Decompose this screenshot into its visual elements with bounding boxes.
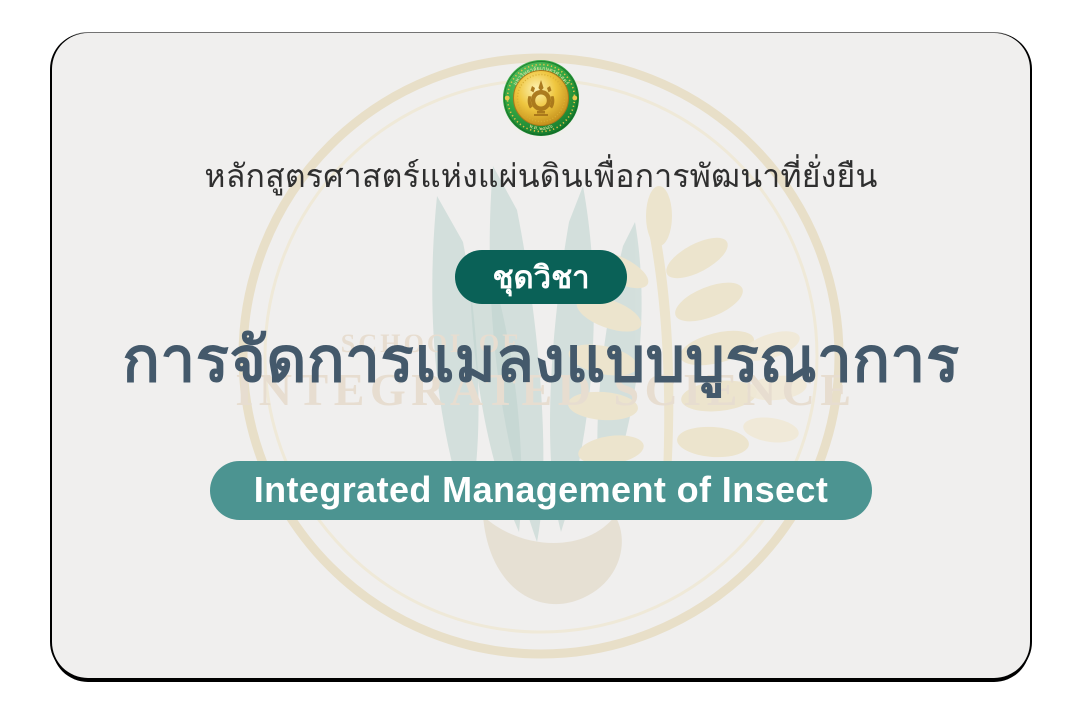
course-title-thai: การจัดการแมลงแบบบูรณาการ — [122, 326, 959, 395]
curriculum-line: หลักสูตรศาสตร์แห่งแผ่นดินเพื่อการพัฒนาที… — [204, 156, 877, 196]
course-type-badge: ชุดวิชา — [455, 250, 627, 304]
university-seal-logo: มหาวิทยาลัยเกษตรศาสตร์ พ.ศ. ๒๔๘๖ — [499, 56, 583, 140]
kasetsart-seal-icon: มหาวิทยาลัยเกษตรศาสตร์ พ.ศ. ๒๔๘๖ — [499, 56, 583, 140]
screenshot-stage: SCHOOL OF INTEGRATED SCIENCE — [0, 0, 1080, 704]
card-content: มหาวิทยาลัยเกษตรศาสตร์ พ.ศ. ๒๔๘๖ หลักสูต… — [52, 33, 1030, 678]
course-card: SCHOOL OF INTEGRATED SCIENCE — [52, 33, 1030, 678]
course-title-english: Integrated Management of Insect — [210, 461, 873, 520]
